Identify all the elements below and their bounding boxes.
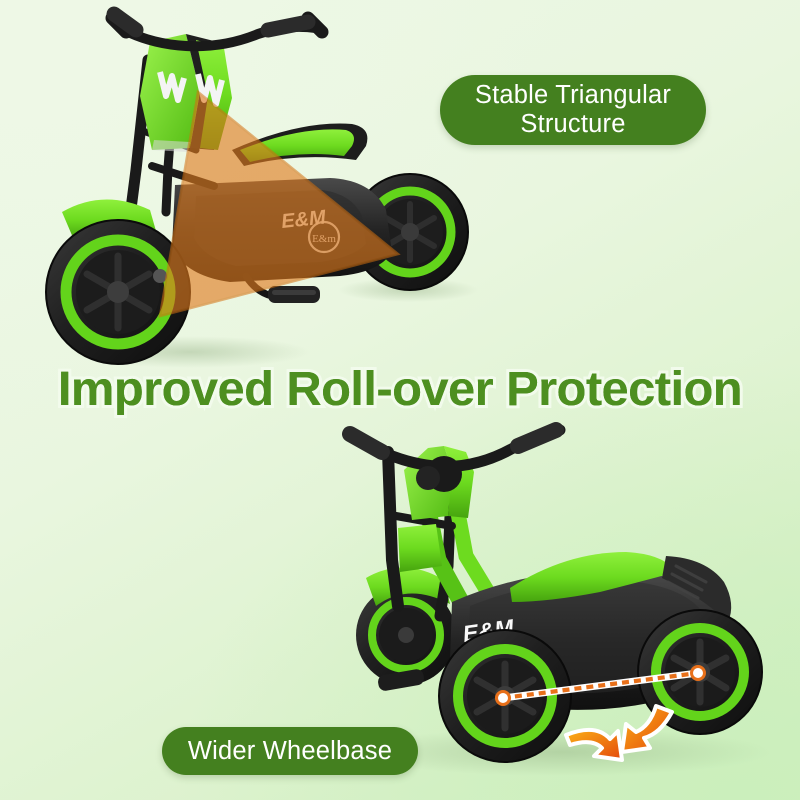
badge-wider-wheelbase[interactable]: Wider Wheelbase	[162, 727, 418, 775]
wheelbase-dashed-line	[497, 667, 705, 705]
badge-wider-wheelbase-label: Wider Wheelbase	[188, 737, 392, 766]
wheelbase-endpoint-right	[692, 667, 705, 680]
expansion-arrow-left	[566, 730, 622, 760]
badge-stable-triangular-structure[interactable]: Stable Triangular Structure	[440, 75, 706, 145]
wheelbase-endpoint-left	[497, 692, 510, 705]
badge-stable-triangular-structure-label: Stable Triangular Structure	[454, 81, 692, 138]
expansion-arrow-right	[622, 706, 672, 752]
page-headline: Improved Roll-over Protection	[0, 366, 800, 414]
feature-graphic-canvas: E&M E&m	[0, 0, 800, 800]
